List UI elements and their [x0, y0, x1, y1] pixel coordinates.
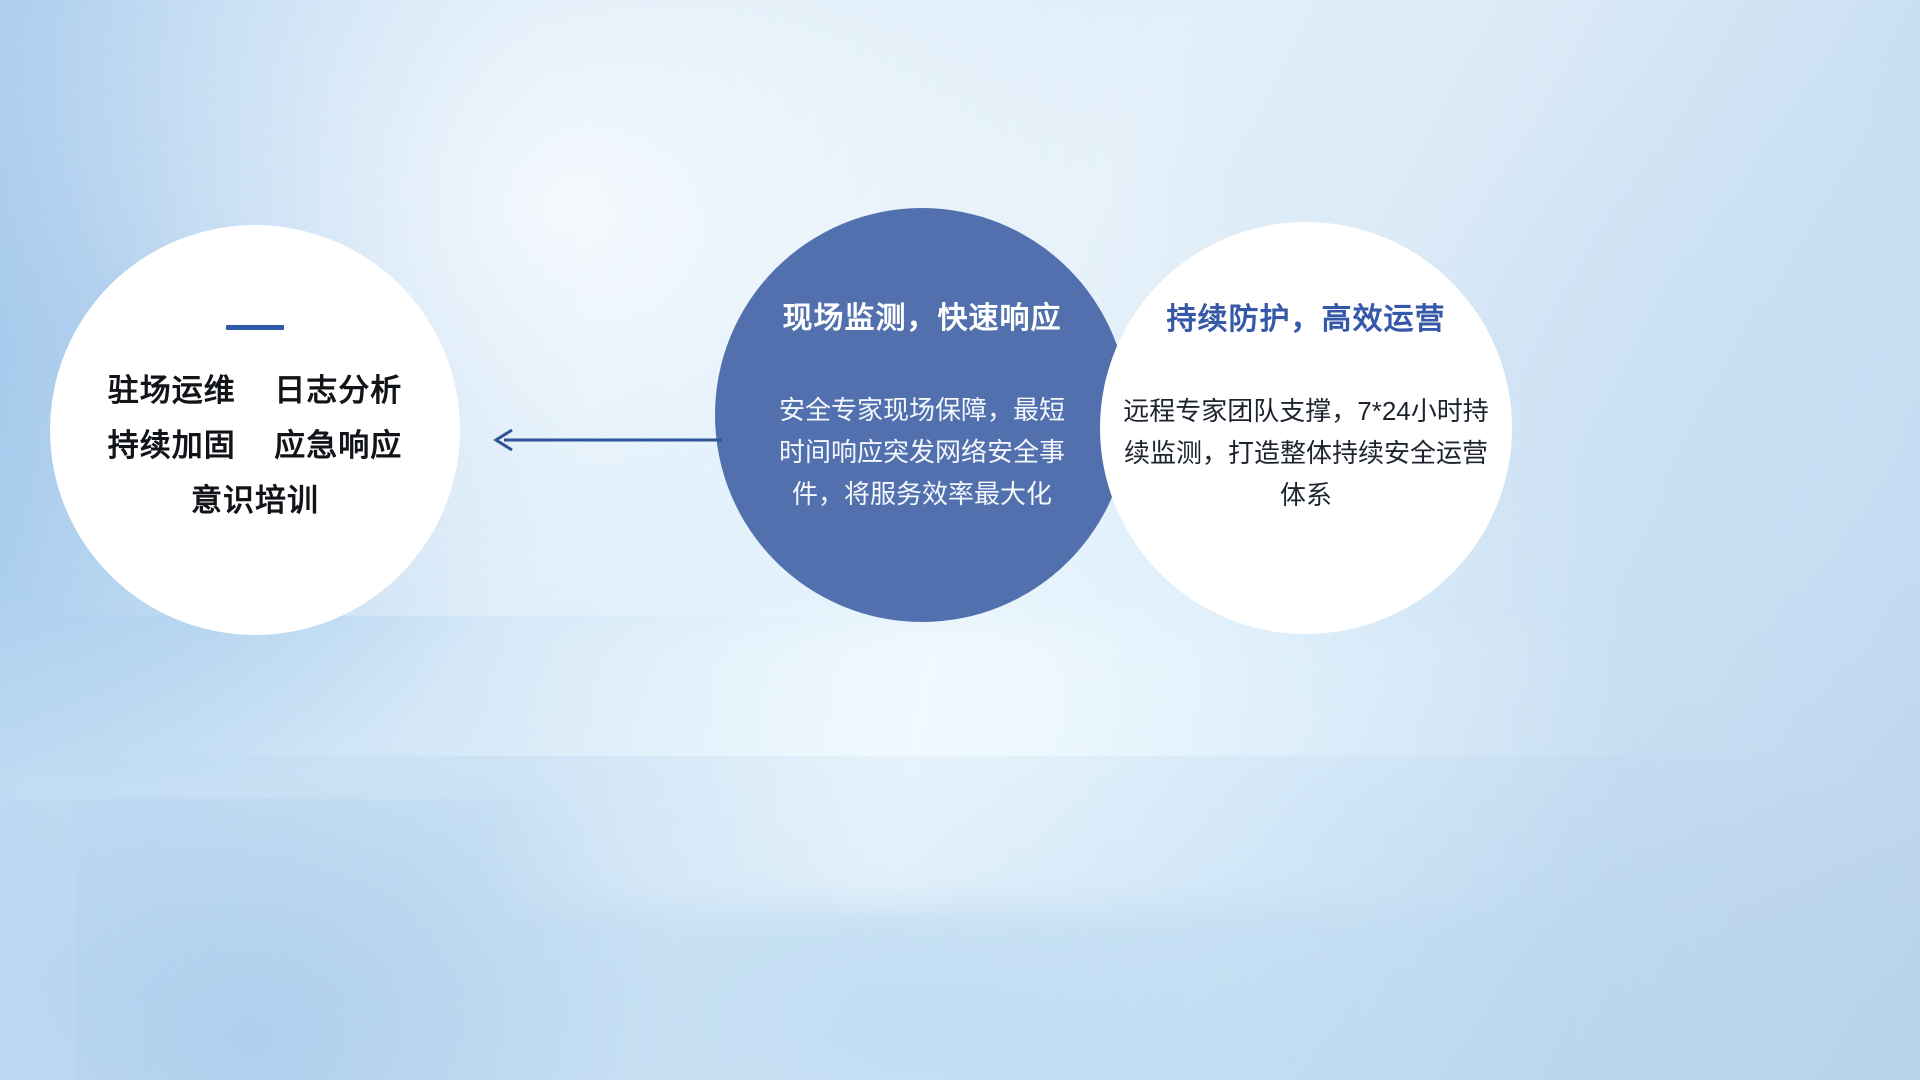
right-operations-circle: 持续防护，高效运营 远程专家团队支撑，7*24小时持续监测，打造整体持续安全运营… — [1100, 222, 1512, 634]
list-item: 意识培训 — [191, 485, 319, 516]
middle-circle-title: 现场监测，快速响应 — [783, 293, 1062, 337]
left-service-circle: 驻场运维 日志分析 持续加固 应急响应 意识培训 — [50, 225, 460, 635]
left-circle-text-list: 驻场运维 日志分析 持续加固 应急响应 意识培训 — [50, 375, 460, 516]
background-light-streak — [499, 626, 1574, 907]
left-arrow-icon — [484, 418, 724, 462]
middle-onsite-circle: 现场监测，快速响应 安全专家现场保障，最短时间响应突发网络安全事件，将服务效率最… — [715, 208, 1129, 622]
right-circle-title: 持续防护，高效运营 — [1167, 294, 1446, 338]
list-item: 驻场运维 日志分析 — [108, 375, 402, 406]
list-item: 持续加固 应急响应 — [108, 430, 402, 461]
middle-circle-body: 安全专家现场保障，最短时间响应突发网络安全事件，将服务效率最大化 — [776, 389, 1068, 515]
accent-dash-icon — [226, 325, 284, 330]
right-circle-body: 远程专家团队支撑，7*24小时持续监测，打造整体持续安全运营体系 — [1121, 390, 1491, 516]
